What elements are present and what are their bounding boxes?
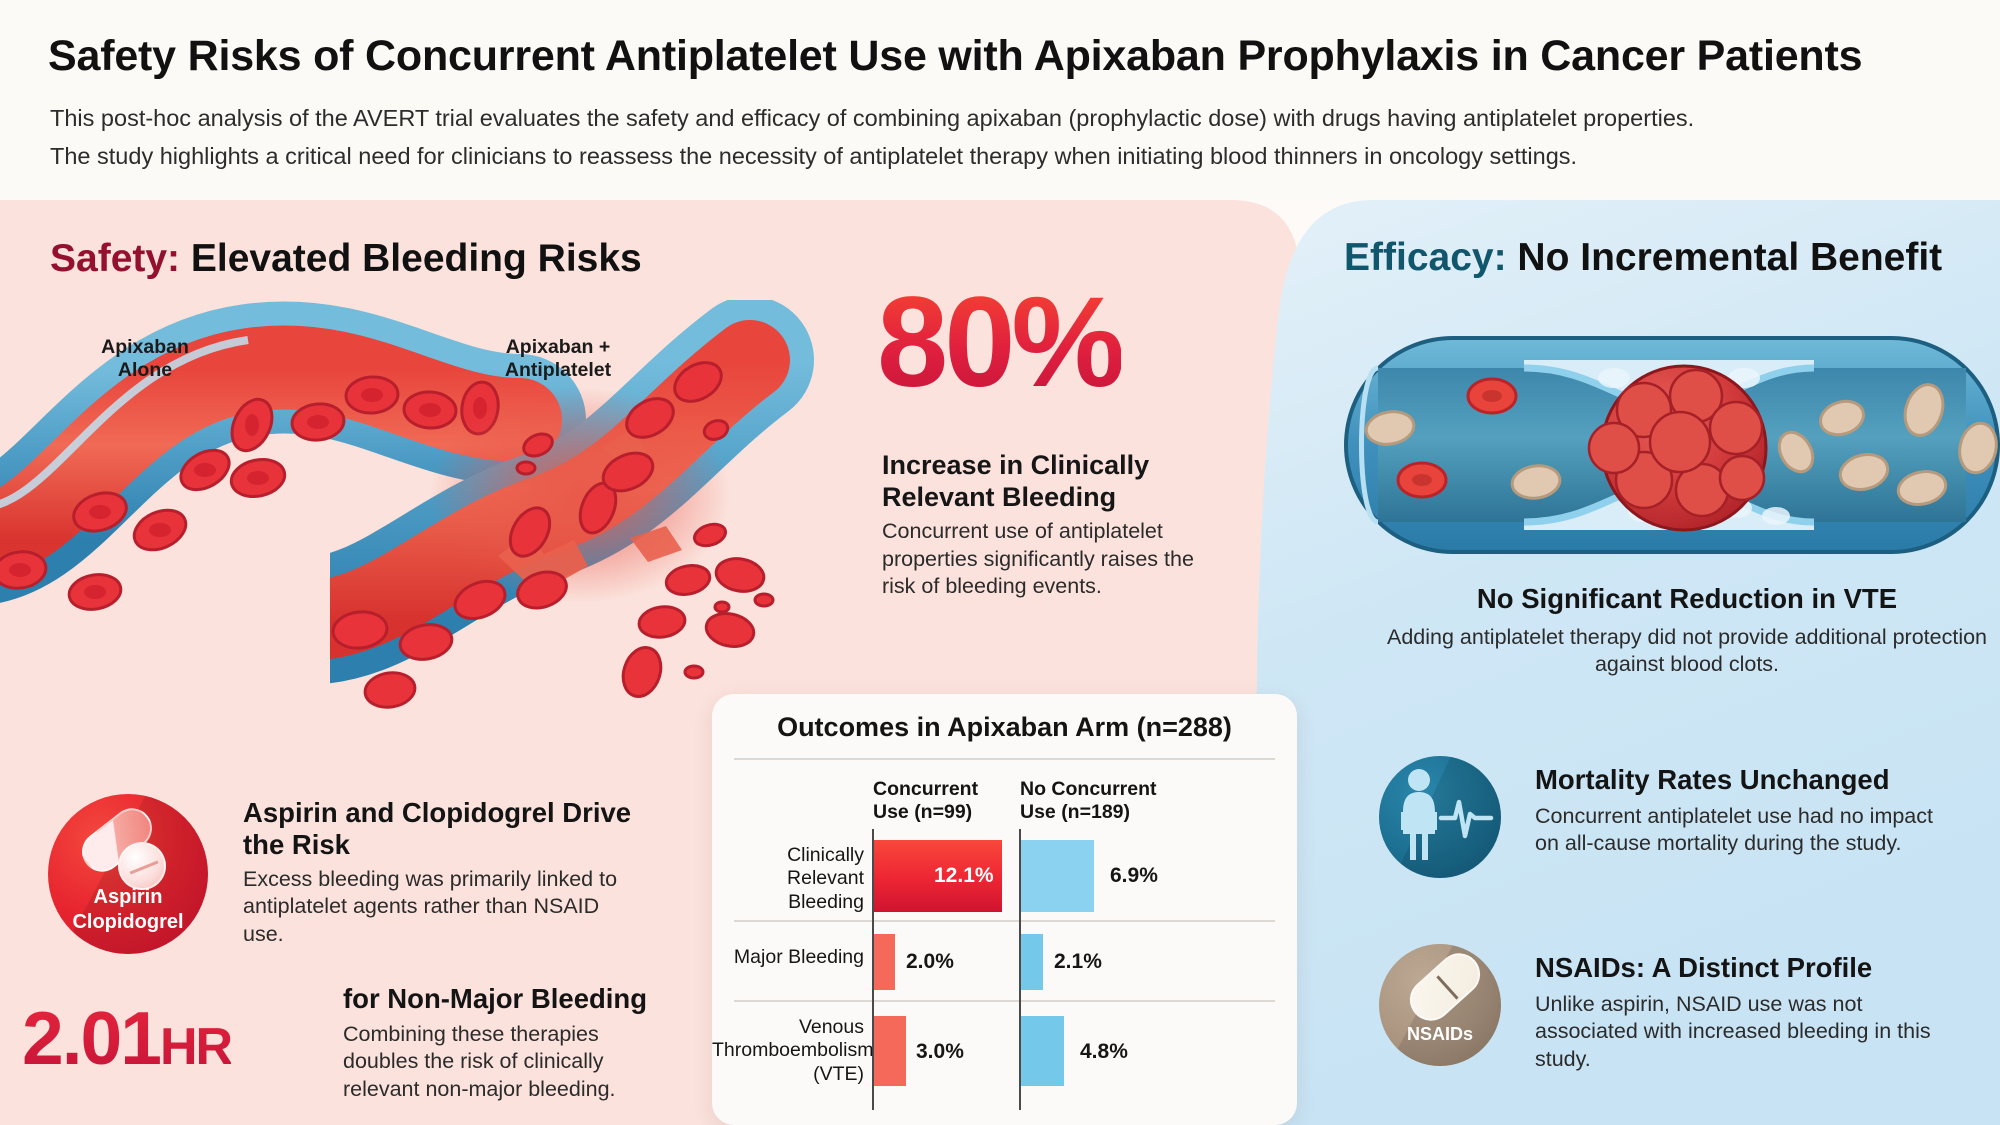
aspirin-icon-label-line2: Clopidogrel	[48, 911, 208, 934]
vte-body: Adding antiplatelet therapy did not prov…	[1372, 624, 2000, 679]
bar-no-concurrent-clinically-relevant-bleeding	[1021, 840, 1094, 912]
efficacy-heading-rest: No Incremental Benefit	[1507, 236, 1943, 279]
efficacy-heading-accent: Efficacy:	[1344, 236, 1507, 279]
aspirin-icon-label-line1: Aspirin	[48, 886, 208, 909]
divider	[734, 1000, 1275, 1002]
subtitle-line-2: The study highlights a critical need for…	[50, 143, 1950, 170]
aspirin-block-body: Excess bleeding was primarily linked to …	[243, 866, 643, 948]
vessel-label-apixaban-antiplatelet: Apixaban + Antiplatelet	[485, 336, 631, 383]
safety-heading: Safety: Elevated Bleeding Risks	[50, 237, 642, 281]
person-heartbeat-icon	[1379, 756, 1501, 878]
bar-value-label: 2.0%	[906, 950, 954, 974]
nsaids-icon: NSAIDs	[1379, 944, 1501, 1066]
nsaids-headline: NSAIDs: A Distinct Profile	[1535, 952, 2000, 984]
bar-value-label: 6.9%	[1110, 864, 1158, 888]
series-name-sub: Use (n=189)	[1020, 801, 1130, 823]
bar-concurrent-major-bleeding	[874, 934, 895, 990]
hazard-ratio-headline: for Non-Major Bleeding	[343, 983, 743, 1015]
hazard-ratio-unit: HR	[160, 1018, 231, 1076]
safety-heading-rest: Elevated Bleeding Risks	[180, 237, 642, 280]
hazard-ratio-stat: 2.01HR	[22, 995, 231, 1081]
mortality-icon	[1379, 756, 1501, 878]
outcomes-chart-card: Outcomes in Apixaban Arm (n=288) Concurr…	[712, 694, 1297, 1125]
bar-concurrent-vte	[874, 1016, 906, 1086]
vessel-label-apixaban-alone: Apixaban Alone	[80, 336, 210, 383]
aspirin-block-headline: Aspirin and Clopidogrel Drive the Risk	[243, 797, 663, 861]
chart-category-label: Major Bleeding	[712, 946, 864, 969]
bar-value-label: 4.8%	[1080, 1040, 1128, 1064]
chart-category-label: Venous Thromboembolism (VTE)	[712, 1016, 864, 1086]
tablet-pill-icon	[118, 842, 166, 890]
series-name-sub: Use (n=99)	[873, 801, 972, 823]
safety-heading-accent: Safety:	[50, 237, 180, 280]
hazard-ratio-body: Combining these therapies doubles the ri…	[343, 1021, 673, 1103]
bar-no-concurrent-major-bleeding	[1021, 934, 1043, 990]
bar-no-concurrent-vte	[1021, 1016, 1064, 1086]
stat-80-percent-body: Concurrent use of antiplatelet propertie…	[882, 518, 1222, 601]
hazard-ratio-value: 2.01	[22, 996, 160, 1080]
efficacy-heading: Efficacy: No Incremental Benefit	[1344, 236, 1942, 280]
nsaids-icon-label: NSAIDs	[1379, 1024, 1501, 1045]
mortality-headline: Mortality Rates Unchanged	[1535, 764, 2000, 796]
header: Safety Risks of Concurrent Antiplatelet …	[0, 0, 2000, 200]
chart-title: Outcomes in Apixaban Arm (n=288)	[712, 712, 1297, 743]
bar-value-label: 12.1%	[934, 864, 994, 888]
subtitle-line-1: This post-hoc analysis of the AVERT tria…	[50, 105, 1950, 132]
mortality-body: Concurrent antiplatelet use had no impac…	[1535, 803, 1955, 858]
bar-value-label: 3.0%	[916, 1040, 964, 1064]
chart-series-header-concurrent: Concurrent Use (n=99)	[873, 778, 1023, 825]
aspirin-clopidogrel-icon: Aspirin Clopidogrel	[48, 794, 208, 954]
divider	[734, 920, 1275, 922]
nsaids-body: Unlike aspirin, NSAID use was not associ…	[1535, 991, 1955, 1073]
series-name-main: No Concurrent	[1020, 778, 1157, 800]
page-title: Safety Risks of Concurrent Antiplatelet …	[48, 32, 1978, 81]
stat-80-percent-headline: Increase in Clinically Relevant Bleeding	[882, 450, 1212, 514]
stat-80-percent-value: 80%	[877, 287, 1121, 400]
series-name-main: Concurrent	[873, 778, 978, 800]
bar-value-label: 2.1%	[1054, 950, 1102, 974]
vessel-illustration-clot	[1344, 330, 2000, 560]
chart-series-header-no-concurrent: No Concurrent Use (n=189)	[1020, 778, 1175, 825]
vte-headline: No Significant Reduction in VTE	[1372, 583, 2000, 615]
chart-category-label: Clinically Relevant Bleeding	[712, 844, 864, 914]
divider	[734, 758, 1275, 760]
